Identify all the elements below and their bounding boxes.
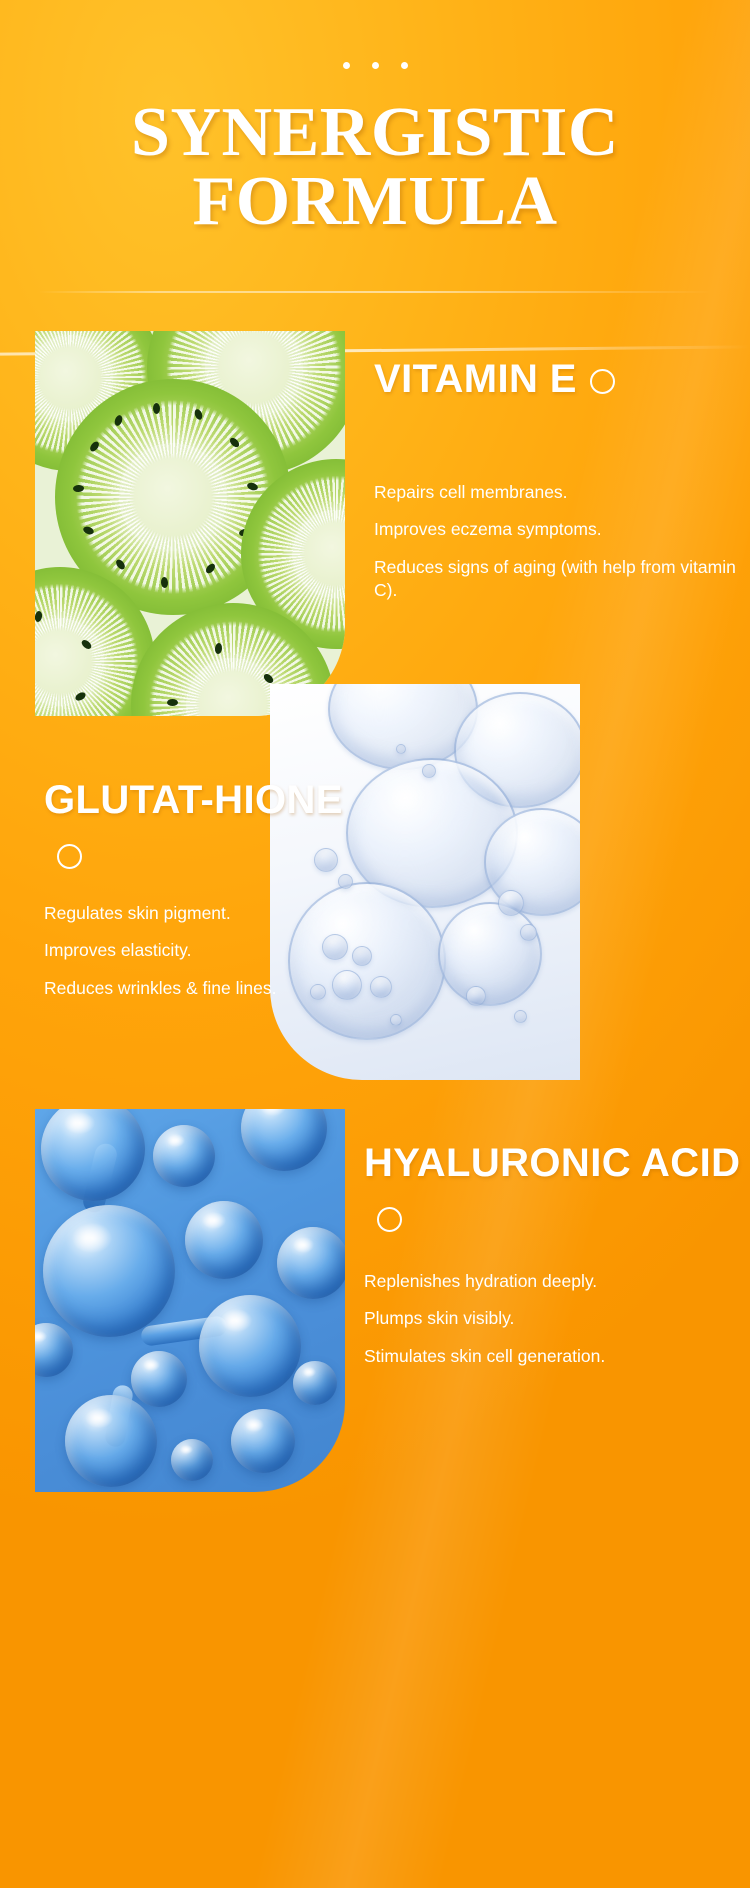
hyaluronic-acid-body: Replenishes hydration deeply. Plumps ski… — [364, 1270, 724, 1368]
glutathione-body: Regulates skin pigment. Improves elastic… — [44, 902, 302, 1000]
glutathione-heading-text: GLUTAT-HIONE — [44, 778, 343, 822]
vitamin-e-heading: VITAMIN E — [374, 352, 729, 406]
bullet-ring-icon — [590, 369, 615, 394]
vitamin-e-bullet-2: Improves eczema symptoms. — [374, 518, 736, 541]
hyaluronic-acid-bullet-3: Stimulates skin cell generation. — [364, 1345, 724, 1368]
bullet-ring-icon — [377, 1207, 402, 1232]
hyaluronic-acid-heading: HYALURONIC ACID — [364, 1136, 744, 1245]
hyaluronic-acid-bullet-2: Plumps skin visibly. — [364, 1307, 724, 1330]
glutathione-heading: GLUTAT-HIONE — [44, 773, 344, 882]
title-divider — [38, 291, 712, 293]
page-title: SYNERGISTIC FORMULA — [0, 98, 750, 237]
glutathione-bullet-2: Improves elasticity. — [44, 939, 302, 962]
dot-3 — [401, 62, 408, 69]
glutathione-bullet-3: Reduces wrinkles & fine lines. — [44, 977, 302, 1000]
vitamin-e-heading-text: VITAMIN E — [374, 357, 577, 401]
page-title-line1: SYNERGISTIC — [131, 94, 619, 171]
page-title-line2: FORMULA — [0, 167, 750, 236]
hyaluronic-acid-heading-text: HYALURONIC ACID — [364, 1141, 740, 1185]
bullet-ring-icon — [57, 844, 82, 869]
infographic-page: SYNERGISTIC FORMULA — [0, 0, 750, 1888]
vitamin-e-image — [35, 331, 345, 716]
vitamin-e-bullet-3: Reduces signs of aging (with help from v… — [374, 556, 736, 603]
glutathione-bullet-1: Regulates skin pigment. — [44, 902, 302, 925]
decorative-dots — [0, 62, 750, 69]
vitamin-e-bullet-1: Repairs cell membranes. — [374, 481, 736, 504]
vitamin-e-body: Repairs cell membranes. Improves eczema … — [374, 481, 736, 602]
glutathione-image — [270, 684, 580, 1080]
hyaluronic-acid-image — [35, 1109, 345, 1492]
dot-2 — [372, 62, 379, 69]
hyaluronic-acid-bullet-1: Replenishes hydration deeply. — [364, 1270, 724, 1293]
dot-1 — [343, 62, 350, 69]
